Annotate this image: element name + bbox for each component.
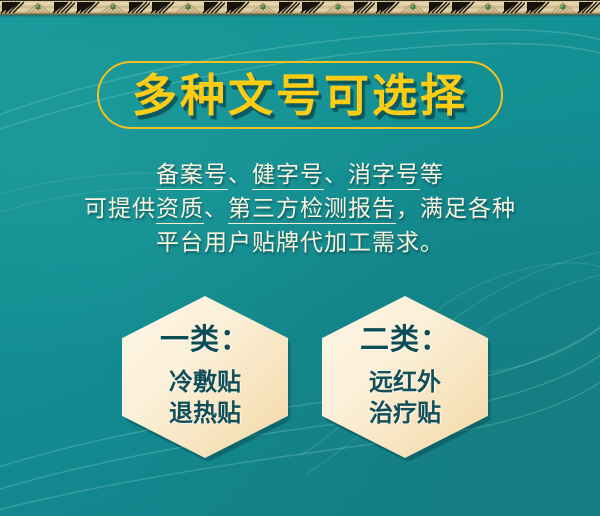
highlighted-term: 消字号: [348, 162, 420, 190]
highlighted-term: 资质: [156, 196, 204, 224]
badge-item: 远红外: [369, 366, 441, 397]
description-line: 备案号、健字号、消字号等: [0, 158, 600, 192]
plain-text: 、: [204, 196, 228, 221]
highlighted-term: 健字号: [252, 162, 324, 190]
plain-text: 、: [324, 162, 348, 187]
plain-text: ，满足各种: [396, 196, 516, 221]
badge-item: 冷敷贴: [169, 366, 241, 397]
badge-heading: 二类：: [360, 316, 450, 358]
badge-heading: 一类：: [160, 316, 250, 358]
description-line: 平台用户贴牌代加工需求。: [0, 226, 600, 260]
badge-items: 远红外 治疗贴: [369, 366, 441, 428]
hatch-pattern: [0, 0, 600, 15]
ornamental-top-border: [0, 0, 600, 15]
badge-item: 治疗贴: [369, 397, 441, 428]
plain-text: 可提供: [84, 196, 156, 221]
description-line: 可提供资质、第三方检测报告，满足各种: [0, 192, 600, 226]
plain-text: 、: [228, 162, 252, 187]
badge-items: 冷敷贴 退热贴: [169, 366, 241, 428]
promo-poster: 多种文号可选择 备案号、健字号、消字号等可提供资质、第三方检测报告，满足各种平台…: [0, 0, 600, 516]
highlighted-term: 第三方检测报告: [228, 196, 396, 224]
description-paragraph: 备案号、健字号、消字号等可提供资质、第三方检测报告，满足各种平台用户贴牌代加工需…: [0, 158, 600, 260]
badge-item: 退热贴: [169, 397, 241, 428]
plain-text: 等: [420, 162, 444, 187]
border-drop-shadow: [0, 15, 600, 18]
page-title: 多种文号可选择: [0, 66, 600, 126]
highlighted-term: 备案号: [156, 162, 228, 190]
plain-text: 平台用户贴牌代加工需求。: [156, 230, 444, 255]
